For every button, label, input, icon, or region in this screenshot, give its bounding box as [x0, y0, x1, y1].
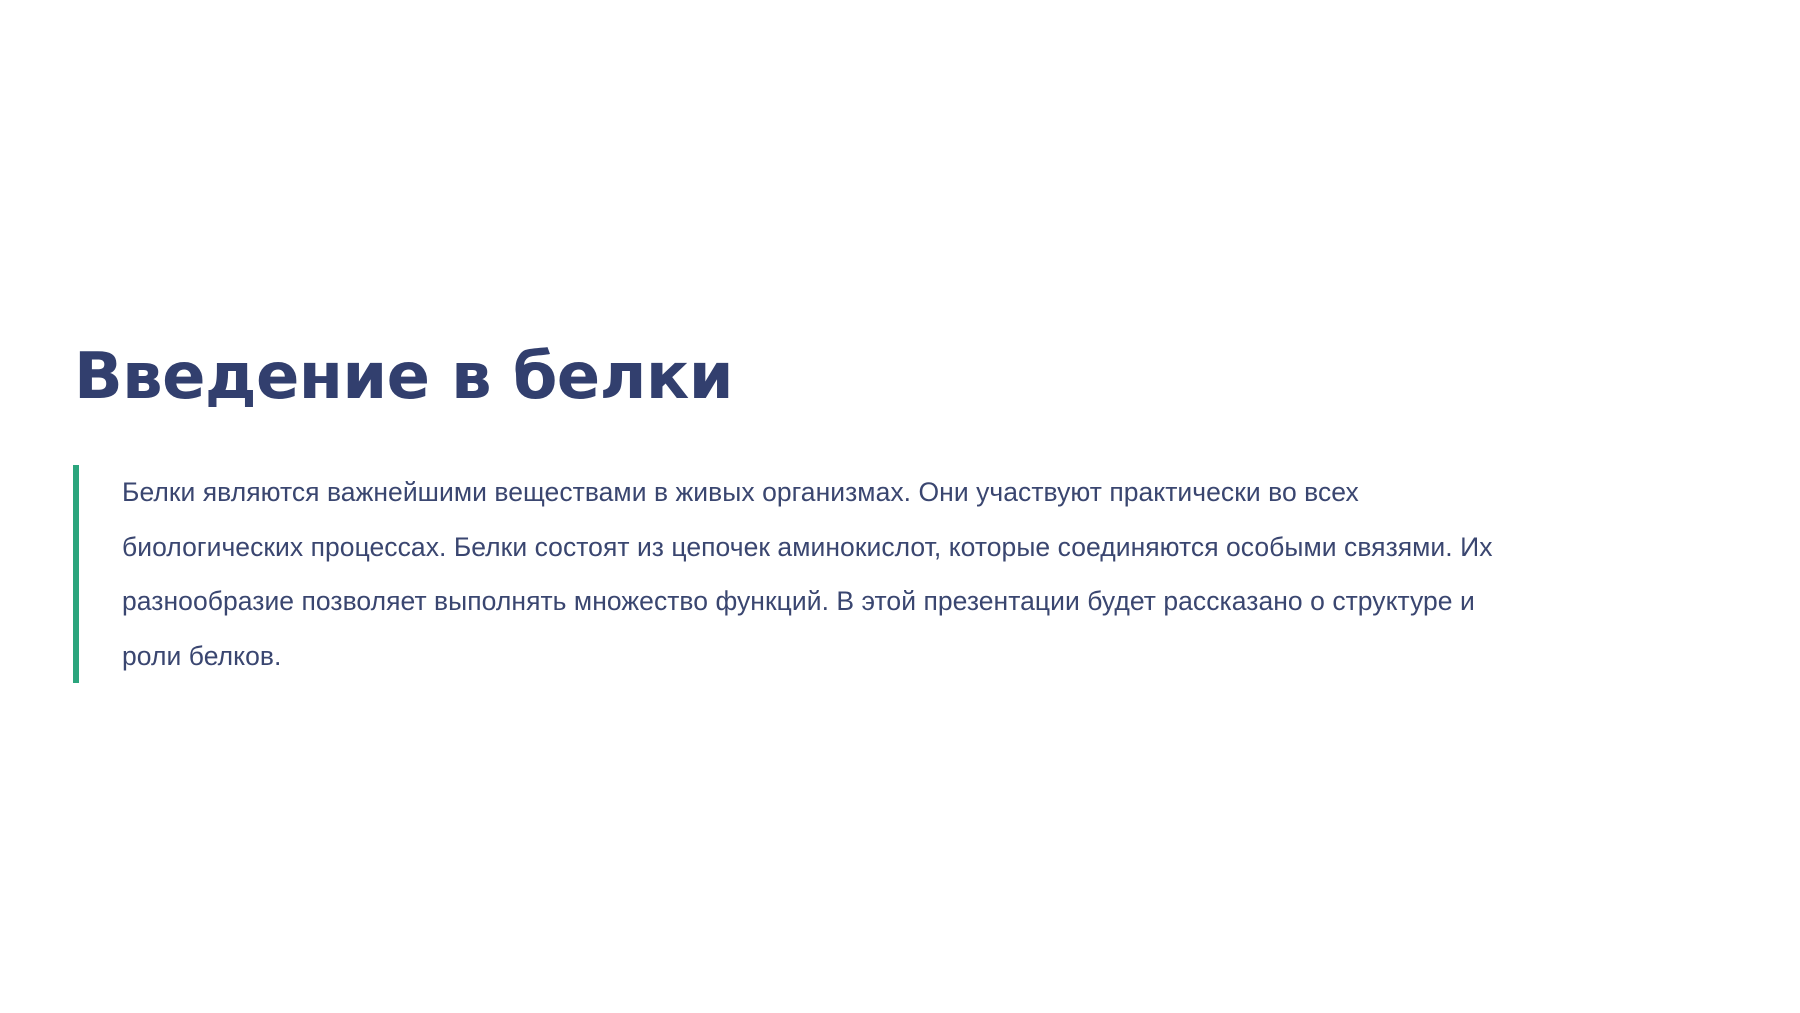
body-block: Белки являются важнейшими веществами в ж… — [73, 465, 1733, 683]
presentation-slide: Введение в белки Белки являются важнейши… — [0, 0, 1800, 1013]
body-paragraph: Белки являются важнейшими веществами в ж… — [79, 465, 1504, 683]
page-title: Введение в белки — [74, 338, 733, 416]
